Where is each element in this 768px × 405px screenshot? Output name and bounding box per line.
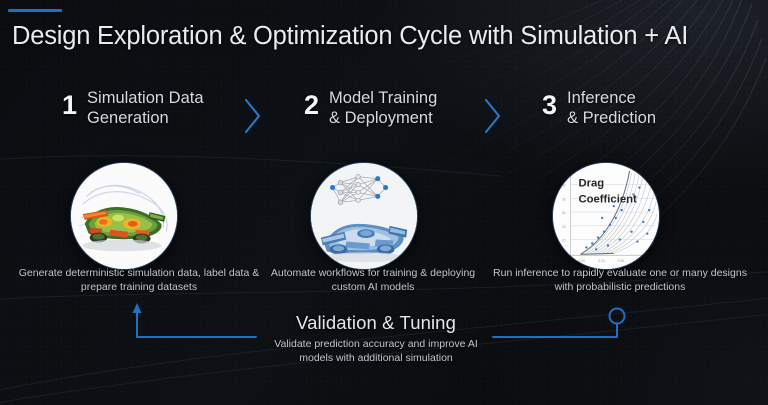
step-2-title: Model Training & Deployment xyxy=(329,88,437,128)
drag-coefficient-label-line1: Drag xyxy=(579,178,605,190)
step-2-caption: Automate workflows for training & deploy… xyxy=(262,266,484,295)
step-2-header: 2 Model Training & Deployment xyxy=(262,88,492,144)
circle-node-icon xyxy=(610,309,625,324)
step-2-title-line2: & Deployment xyxy=(329,108,437,128)
svg-text:25: 25 xyxy=(562,225,566,229)
validation-title: Validation & Tuning xyxy=(226,312,526,334)
svg-text:0.30: 0.30 xyxy=(618,259,625,263)
validation-panel: Validation & Tuning Validate prediction … xyxy=(226,312,526,366)
step-3-header: 3 Inference & Prediction xyxy=(500,88,730,144)
step-2: 2 Model Training & Deployment xyxy=(262,88,492,144)
step-3: 3 Inference & Prediction xyxy=(500,88,730,144)
svg-text:0.20: 0.20 xyxy=(579,259,586,263)
svg-text:35: 35 xyxy=(562,197,566,201)
step-3-caption: Run inference to rapidly evaluate one or… xyxy=(486,266,754,295)
validation-description-line2: models with additional simulation xyxy=(226,351,526,365)
validation-description: Validate prediction accuracy and improve… xyxy=(226,337,526,366)
step-2-number: 2 xyxy=(304,92,319,119)
page-title: Design Exploration & Optimization Cycle … xyxy=(12,22,688,51)
arrow-up-icon xyxy=(133,303,142,313)
step-3-title-line1: Inference xyxy=(567,88,656,108)
svg-text:0.35: 0.35 xyxy=(637,259,644,263)
svg-text:40: 40 xyxy=(562,184,566,188)
step-1-title: Simulation Data Generation xyxy=(87,88,203,128)
svg-text:20: 20 xyxy=(562,239,566,243)
step-3-number: 3 xyxy=(542,92,557,119)
svg-text:30: 30 xyxy=(562,211,566,215)
accent-bar xyxy=(8,9,62,12)
step-1-header: 1 Simulation Data Generation xyxy=(20,88,250,144)
step-1-number: 1 xyxy=(62,92,77,119)
validation-description-line1: Validate prediction accuracy and improve… xyxy=(226,337,526,351)
drag-coefficient-chart-image: 4035 3025 2015 0.200.25 0.300.35 xyxy=(552,162,660,270)
step-3-title: Inference & Prediction xyxy=(567,88,656,128)
svg-text:15: 15 xyxy=(562,252,566,256)
drag-coefficient-label-line2: Coefficient xyxy=(579,193,637,205)
step-2-title-line1: Model Training xyxy=(329,88,437,108)
neural-network-racecar-image xyxy=(310,162,418,270)
step-1-title-line2: Generation xyxy=(87,108,203,128)
step-1: 1 Simulation Data Generation xyxy=(20,88,250,144)
step-3-title-line2: & Prediction xyxy=(567,108,656,128)
svg-text:0.25: 0.25 xyxy=(598,259,605,263)
cfd-racecar-heatmap-image xyxy=(70,162,178,270)
slide-canvas: Design Exploration & Optimization Cycle … xyxy=(0,0,768,405)
step-1-title-line1: Simulation Data xyxy=(87,88,203,108)
step-1-caption: Generate deterministic simulation data, … xyxy=(14,266,264,295)
